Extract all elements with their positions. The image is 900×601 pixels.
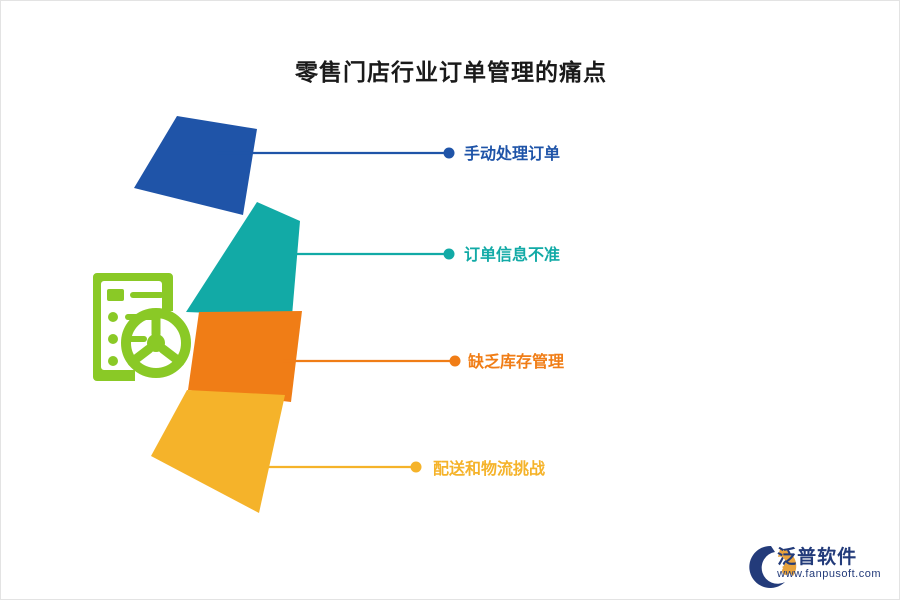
chevron-block-3[interactable] xyxy=(188,311,302,402)
brand-text: 泛普软件 www.fanpusoft.com xyxy=(777,547,881,581)
invoice-steering-wheel-icon xyxy=(93,273,186,381)
brand-url: www.fanpusoft.com xyxy=(777,568,881,581)
item-label-2[interactable]: 订单信息不准 xyxy=(464,241,560,265)
chevron-block-1[interactable] xyxy=(134,116,257,215)
chevron-block-4[interactable] xyxy=(151,390,285,513)
item-label-1[interactable]: 手动处理订单 xyxy=(464,140,560,164)
connector-3 xyxy=(283,356,461,367)
brand-name: 泛普软件 xyxy=(777,547,881,569)
infographic-page: 零售门店行业订单管理的痛点 xyxy=(0,0,900,600)
item-label-3[interactable]: 缺乏库存管理 xyxy=(468,348,564,372)
connector-2 xyxy=(271,249,455,260)
brand-watermark: 泛普软件 www.fanpusoft.com xyxy=(777,547,881,581)
diagram-canvas xyxy=(1,1,900,601)
item-label-4[interactable]: 配送和物流挑战 xyxy=(433,455,545,479)
chevron-block-2[interactable] xyxy=(186,202,300,316)
